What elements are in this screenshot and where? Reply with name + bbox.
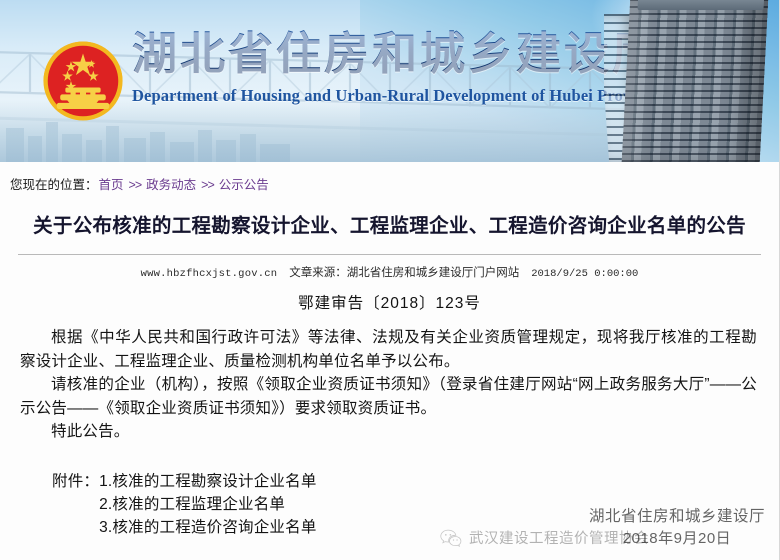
site-title-en: Department of Housing and Urban-Rural De… <box>132 86 652 106</box>
attachment-item[interactable]: 1.核准的工程勘察设计企业名单 <box>99 470 316 493</box>
breadcrumb-separator: >> <box>129 178 142 192</box>
publish-date: 2018/9/25 0:00:00 <box>531 268 638 280</box>
source-name: 湖北省住房和城乡建设厅门户网站 <box>347 267 520 279</box>
source-url: www.hbzfhcxjst.gov.cn <box>141 268 278 280</box>
signature-issuer: 湖北省住房和城乡建设厅 <box>589 506 765 528</box>
breadcrumb: 您现在的位置：首页>>政务动态>>公示公告 <box>0 162 779 203</box>
office-tower-photo <box>604 0 780 162</box>
body-paragraph: 请核准的企业（机构），按照《领取企业资质证书须知》（登录省住建厅网站“网上政务服… <box>20 373 757 420</box>
breadcrumb-item-government-news[interactable]: 政务动态 <box>146 178 196 192</box>
tower-main-body <box>621 0 768 162</box>
attachment-item[interactable]: 3.核准的工程造价咨询企业名单 <box>99 516 316 539</box>
body-paragraph: 特此公告。 <box>20 420 757 444</box>
title-divider <box>18 254 761 255</box>
body-paragraph: 根据《中华人民共和国行政许可法》等法律、法规及有关企业资质管理规定，现将我厅核准… <box>20 326 757 373</box>
attachment-list: 1.核准的工程勘察设计企业名单 2.核准的工程监理企业名单 3.核准的工程造价咨… <box>99 470 316 540</box>
site-header-banner: 湖北省住房和城乡建设厅 Department of Housing and Ur… <box>0 0 780 162</box>
breadcrumb-item-public-notice[interactable]: 公示公告 <box>219 178 269 192</box>
banner-title-group: 湖北省住房和城乡建设厅 Department of Housing and Ur… <box>132 26 652 106</box>
breadcrumb-separator: >> <box>201 178 214 192</box>
document-number: 鄂建审告〔2018〕123号 <box>14 291 765 313</box>
breadcrumb-item-home[interactable]: 首页 <box>99 178 124 192</box>
breadcrumb-label: 您现在的位置： <box>10 178 98 192</box>
tower-roof-cap <box>637 0 764 10</box>
article-meta: www.hbzfhcxjst.gov.cn文章来源：湖北省住房和城乡建设厅门户网… <box>14 264 765 280</box>
signature-block: 湖北省住房和城乡建设厅 2018年9月20日 <box>589 506 765 550</box>
page-title: 关于公布核准的工程勘察设计企业、工程监理企业、工程造价咨询企业名单的公告 <box>24 211 755 240</box>
announcement-page: 湖北省住房和城乡建设厅 Department of Housing and Ur… <box>0 0 780 560</box>
article-container: 关于公布核准的工程勘察设计企业、工程监理企业、工程造价咨询企业名单的公告 www… <box>0 211 779 540</box>
attachment-item[interactable]: 2.核准的工程监理企业名单 <box>99 493 316 516</box>
source-label: 文章来源： <box>289 267 347 279</box>
signature-date: 2018年9月20日 <box>589 528 765 550</box>
site-title-cn: 湖北省住房和城乡建设厅 <box>132 26 652 82</box>
national-emblem-icon <box>40 38 126 124</box>
attachment-label: 附件： <box>52 470 99 540</box>
wechat-icon <box>440 528 462 548</box>
article-body: 根据《中华人民共和国行政许可法》等法律、法规及有关企业资质管理规定，现将我厅核准… <box>14 326 765 444</box>
